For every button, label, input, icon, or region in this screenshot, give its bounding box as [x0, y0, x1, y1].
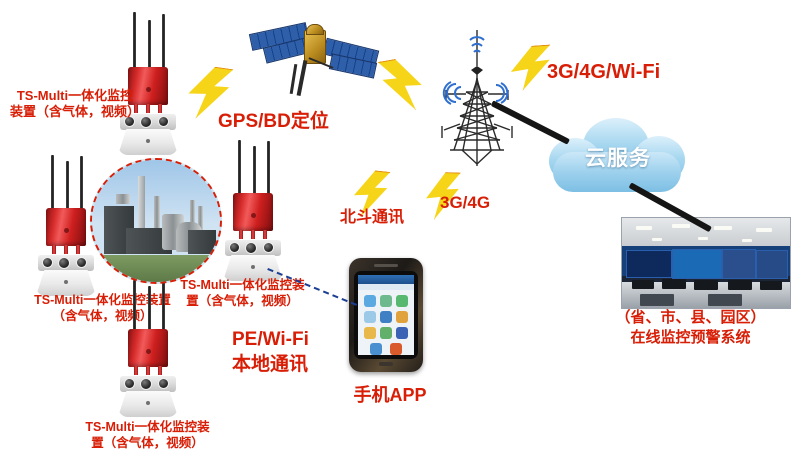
- speaker-grille: [374, 264, 398, 267]
- antenna-icon: [162, 14, 165, 70]
- desk-monitor: [662, 279, 686, 289]
- antenna-icon: [51, 155, 54, 211]
- sensor-device-mid-right: [215, 140, 287, 280]
- antenna-icon: [133, 12, 136, 70]
- ceiling-light: [636, 226, 652, 230]
- refinery-photo-icon: [90, 158, 222, 284]
- sensor-device-top-left: [110, 12, 182, 152]
- camera-lens-icon: [77, 258, 86, 267]
- cell-tower-icon: [432, 22, 522, 172]
- home-button[interactable]: [379, 362, 393, 366]
- app-icon: [396, 295, 408, 307]
- device-sensor-dot: [251, 265, 255, 269]
- video-wall-panel: [756, 250, 788, 279]
- label-cloud-service: 云服务: [543, 142, 693, 172]
- ceiling-light: [672, 224, 690, 228]
- network-topology-diagram: TS-Multi一体化监控 装置（含气体，视频） TS-Multi一体化监控装置…: [0, 0, 797, 464]
- lightning-bolt-icon: [378, 55, 429, 115]
- desk-monitor: [728, 280, 752, 290]
- app-icon: [380, 311, 392, 323]
- antenna-icon: [253, 146, 256, 196]
- app-icon: [364, 295, 376, 307]
- ceiling-light: [698, 237, 708, 240]
- satellite-dish: [306, 24, 324, 35]
- photo-ground: [92, 255, 220, 282]
- antenna-icon: [148, 20, 151, 70]
- app-icon: [370, 343, 382, 355]
- room-ceiling: [622, 218, 790, 249]
- label-3g-4g-wifi: 3G/4G/Wi-Fi: [547, 60, 747, 85]
- desk-monitor: [694, 280, 718, 290]
- camera-lens-icon: [159, 379, 168, 388]
- app-icon: [364, 311, 376, 323]
- antenna-icon: [238, 140, 241, 196]
- camera-lens-icon: [43, 258, 52, 267]
- label-control-room: （省、市、县、园区） 在线监控预警系统: [588, 308, 793, 349]
- video-wall-panel: [672, 249, 722, 279]
- ceiling-light: [756, 228, 772, 232]
- antenna-icon: [80, 156, 83, 211]
- tablet-screen: [358, 275, 414, 355]
- device-sensor-dot: [64, 280, 68, 284]
- camera-lens-icon: [141, 379, 151, 389]
- camera-lens-icon: [230, 243, 239, 252]
- satellite-boom: [297, 60, 308, 96]
- sensor-device-bottom: [110, 280, 182, 420]
- ceiling-light: [652, 238, 662, 241]
- ceiling-light: [742, 239, 752, 242]
- status-bar: [358, 275, 414, 284]
- antenna-icon: [162, 281, 165, 332]
- antenna-icon: [267, 141, 270, 196]
- camera-lens-icon: [159, 117, 168, 126]
- antenna-icon: [133, 280, 136, 332]
- app-icon: [364, 327, 376, 339]
- device-sensor-dot: [146, 139, 150, 143]
- satellite-icon: [248, 12, 378, 104]
- app-icon: [380, 327, 392, 339]
- antenna-icon: [148, 286, 151, 332]
- camera-lens-icon: [264, 243, 273, 252]
- camera-lens-icon: [125, 379, 134, 388]
- label-3g-4g: 3G/4G: [440, 192, 530, 213]
- label-pe-wifi: PE/Wi-Fi 本地通讯: [232, 328, 352, 377]
- satellite-boom: [290, 64, 298, 94]
- label-device-top-left: TS-Multi一体化监控 装置（含气体，视频）: [0, 88, 150, 121]
- camera-lens-icon: [59, 258, 69, 268]
- photo-building: [188, 230, 216, 254]
- tablet-icon: [349, 258, 423, 372]
- ceiling-light: [714, 226, 732, 230]
- desk-front: [640, 294, 674, 306]
- video-wall-panel: [626, 250, 672, 278]
- label-phone-app: 手机APP: [335, 384, 445, 407]
- desk-front: [708, 294, 742, 306]
- camera-lens-icon: [246, 243, 256, 253]
- device-sensor-dot: [146, 401, 150, 405]
- photo-chimney: [138, 176, 145, 232]
- photo-tower: [116, 194, 130, 204]
- label-beidou: 北斗通讯: [340, 208, 450, 228]
- device-body: [46, 208, 86, 246]
- device-body: [233, 193, 273, 231]
- desk-monitor: [760, 281, 782, 290]
- app-icon: [390, 343, 402, 355]
- device-body: [128, 329, 168, 367]
- app-icon: [380, 295, 392, 307]
- video-wall-panel: [722, 249, 756, 279]
- label-gps-bd: GPS/BD定位: [218, 110, 388, 134]
- desk-monitor: [632, 280, 654, 289]
- title-bar: [358, 284, 414, 290]
- antenna-icon: [66, 161, 69, 211]
- app-icon: [396, 327, 408, 339]
- app-icon: [396, 311, 408, 323]
- label-device-bottom: TS-Multi一体化监控装 置（含气体，视频）: [60, 420, 235, 451]
